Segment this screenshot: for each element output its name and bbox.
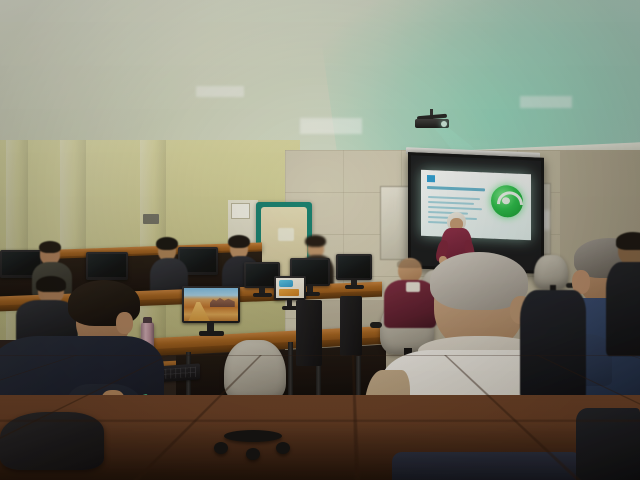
door-vision-panel [278, 228, 294, 241]
slide-accent-square [427, 175, 435, 182]
slide-heading-line [427, 186, 485, 191]
monitor-off[interactable] [86, 252, 128, 282]
chair-right-foreground [576, 408, 640, 480]
attendee-right-dark-lower [520, 290, 586, 400]
attendee-far-right-dark [612, 236, 640, 356]
projector-lens-icon [441, 121, 447, 127]
chair-seat-foreground [392, 452, 582, 480]
office-chair-foreground[interactable] [0, 412, 110, 480]
chair-back-dark [0, 412, 104, 470]
ceiling-light-panel [520, 96, 572, 108]
monitor-desert-wallpaper[interactable] [182, 286, 240, 338]
ceiling-light-panel [300, 118, 362, 134]
green-circular-logo-icon [491, 185, 523, 218]
slide-body-line [428, 196, 480, 200]
wall-notice [231, 203, 250, 219]
office-chair-base[interactable] [208, 430, 298, 464]
slide-body-line [428, 206, 482, 210]
ceiling-projector [415, 115, 451, 128]
classroom-photo: Computer lab training session with proje… [0, 0, 640, 480]
slide-body-line [428, 201, 474, 205]
attendee-ear [116, 312, 133, 334]
pc-tower [340, 296, 362, 356]
ceiling-light-panel [196, 86, 244, 97]
